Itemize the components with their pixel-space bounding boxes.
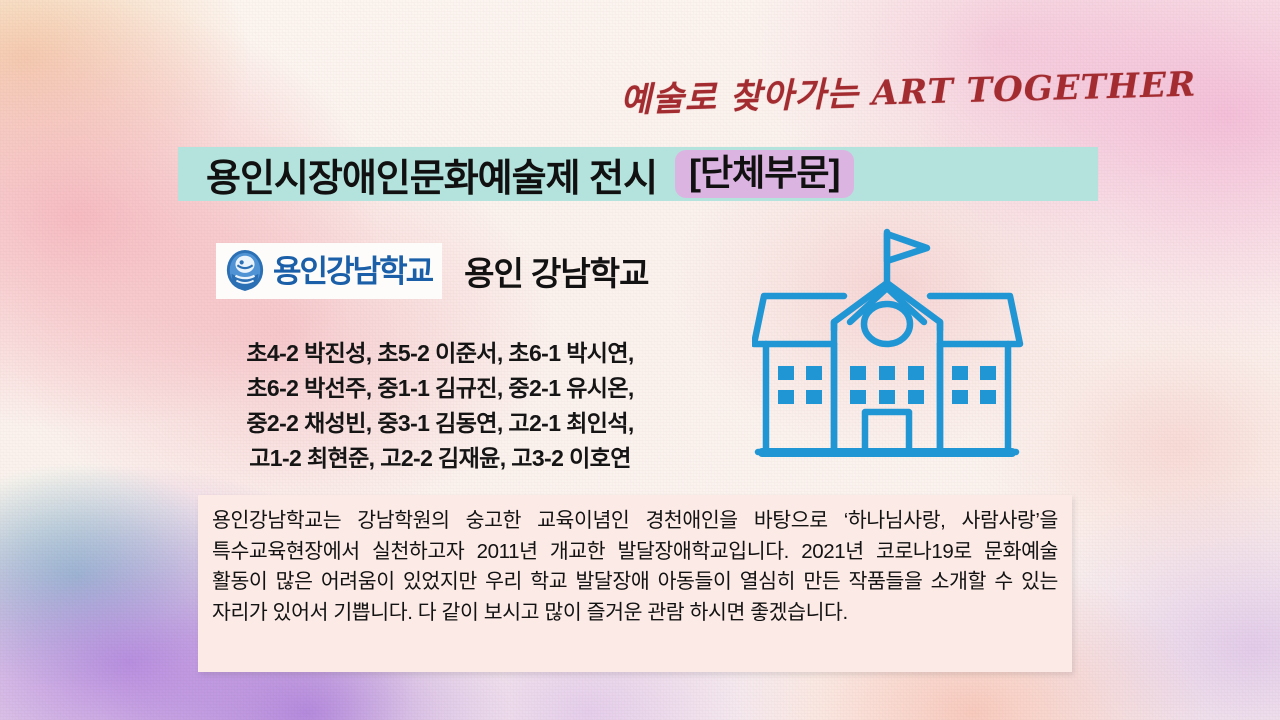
participant-line: 초4-2 박진성, 초5-2 이준서, 초6-1 박시연, — [120, 336, 760, 371]
school-logo: 용인강남학교 — [216, 243, 442, 299]
school-logo-wordmark: 용인강남학교 — [273, 256, 432, 287]
school-crest-icon — [224, 249, 266, 293]
school-building-icon — [752, 226, 1042, 476]
participant-line: 초6-2 박선주, 중1-1 김규진, 중2-1 유시온, — [120, 371, 760, 406]
participant-list: 초4-2 박진성, 초5-2 이준서, 초6-1 박시연, 초6-2 박선주, … — [120, 336, 760, 476]
participant-line: 중2-2 채성빈, 중3-1 김동연, 고2-1 최인석, — [120, 406, 760, 441]
description-text: 용인강남학교는 강남학원의 숭고한 교육이념인 경천애인을 바탕으로 ‘하나님사… — [212, 506, 1058, 628]
category-badge: [단체부문] — [675, 150, 853, 198]
school-identity-row: 용인강남학교 용인 강남학교 — [216, 243, 648, 299]
description-panel: 용인강남학교는 강남학원의 숭고한 교육이념인 경천애인을 바탕으로 ‘하나님사… — [198, 495, 1072, 672]
page-title: 용인시장애인문화예술제 전시 — [206, 147, 657, 202]
school-name: 용인 강남학교 — [464, 247, 648, 295]
participant-line: 고1-2 최현준, 고2-2 김재윤, 고3-2 이호연 — [120, 441, 760, 476]
event-tagline: 예술로 찾아가는 ART TOGETHER — [619, 59, 1100, 121]
poster-canvas: 예술로 찾아가는 ART TOGETHER 용인시장애인문화예술제 전시 [단체… — [0, 0, 1280, 720]
title-band: 용인시장애인문화예술제 전시 [단체부문] — [178, 147, 1098, 201]
